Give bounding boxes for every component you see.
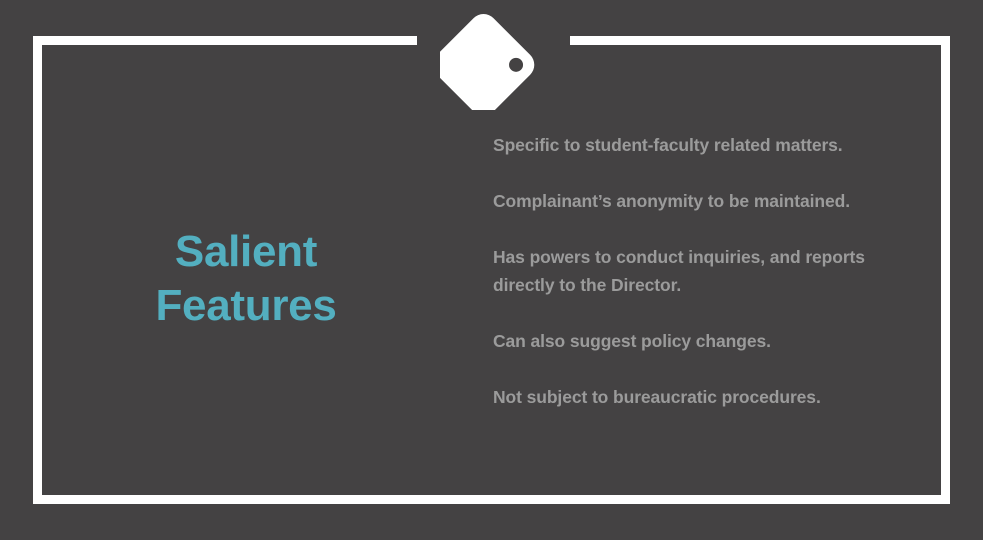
- tag-icon: [440, 14, 544, 110]
- list-item: Specific to student-faculty related matt…: [493, 131, 925, 159]
- frame-border-left: [33, 36, 42, 504]
- page-title: Salient Features: [66, 225, 426, 333]
- list-item: Has powers to conduct inquiries, and rep…: [493, 243, 925, 299]
- page-title-line-2: Features: [66, 279, 426, 333]
- features-list: Specific to student-faculty related matt…: [493, 131, 925, 411]
- list-item: Complainant’s anonymity to be maintained…: [493, 187, 925, 215]
- frame-border-top-left: [33, 36, 417, 45]
- frame-border-bottom: [33, 495, 950, 504]
- list-item: Not subject to bureaucratic procedures.: [493, 383, 925, 411]
- list-item: Can also suggest policy changes.: [493, 327, 925, 355]
- frame-border-top-right: [570, 36, 950, 45]
- slide: Salient Features Specific to student-fac…: [0, 0, 983, 540]
- page-title-line-1: Salient: [66, 225, 426, 279]
- frame-border-right: [941, 36, 950, 504]
